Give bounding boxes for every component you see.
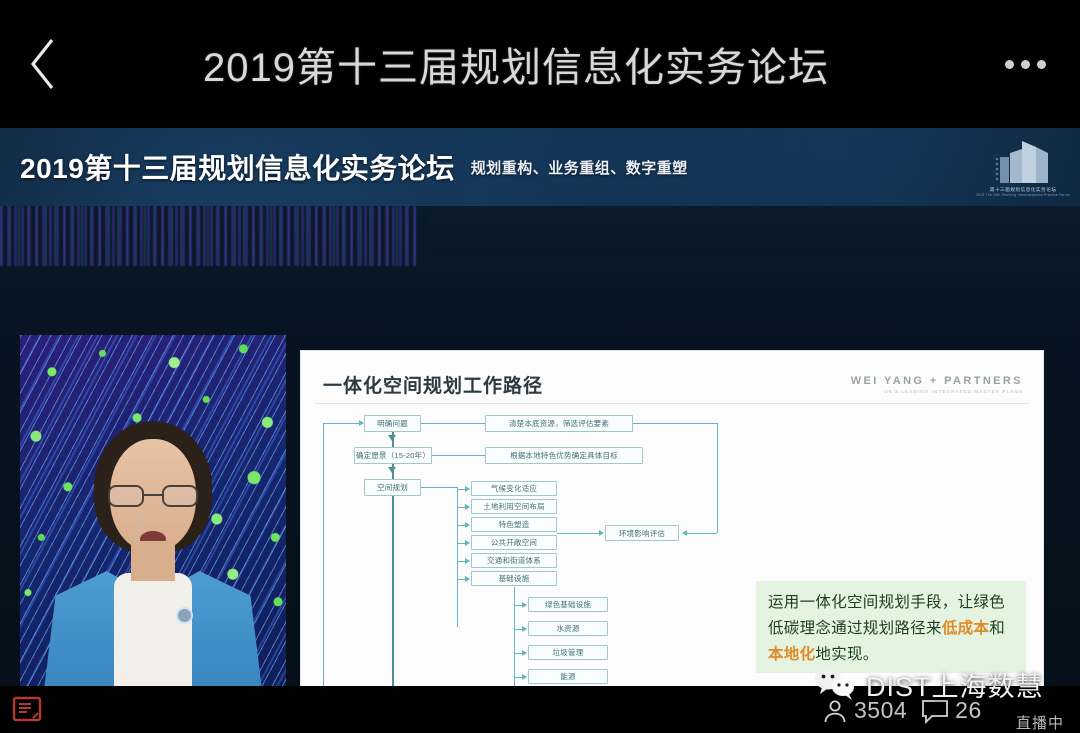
feedback-loop-line bbox=[323, 423, 359, 424]
node-label: 垃圾管理 bbox=[553, 647, 584, 658]
node-label: 环境影响评估 bbox=[619, 528, 665, 539]
slide-logo: WEI YANG + PARTNERS UK'S LEADING INTEGRA… bbox=[851, 375, 1023, 394]
flow-item-transport-streets: 交通和街道体系 bbox=[471, 553, 557, 568]
flow-node-set-vision: 确定愿景（15-20年） bbox=[354, 447, 432, 464]
branch-line bbox=[457, 543, 465, 544]
flow-note-resource-survey: 清楚本底资源，筛选评估要素 bbox=[485, 415, 633, 432]
spine-arrow-icon bbox=[388, 435, 396, 441]
flow-item-green-infrastructure: 绿色基础设施 bbox=[528, 597, 608, 612]
node-label: 清楚本底资源，筛选评估要素 bbox=[509, 418, 609, 429]
speaker-neck bbox=[131, 541, 175, 581]
flow-item-climate-adaptation: 气候变化适应 bbox=[471, 481, 557, 496]
branch-line bbox=[457, 579, 465, 580]
node-label: 基础设施 bbox=[499, 573, 530, 584]
conference-banner: 2019第十三届规划信息化实务论坛 规划重构、业务重组、数字重塑 第十三届规划信… bbox=[0, 128, 1080, 206]
flow-note-local-targets: 根据本地特色优势确定具体目标 bbox=[485, 447, 643, 464]
flow-item-infrastructure: 基础设施 bbox=[471, 571, 557, 586]
slide-divider bbox=[315, 403, 1029, 404]
flow-item-energy: 能源 bbox=[528, 669, 608, 684]
branch-line bbox=[457, 525, 465, 526]
callout-highlight-low-cost: 低成本 bbox=[942, 620, 989, 637]
more-options-button[interactable] bbox=[970, 0, 1080, 128]
node-label: 公共开敞空间 bbox=[491, 537, 537, 548]
branch-arrow-icon bbox=[522, 602, 527, 608]
banner-logo: 第十三届规划信息化实务论坛 2019 The 13th Planning Inf… bbox=[980, 132, 1066, 204]
branch-arrow-icon bbox=[465, 504, 470, 510]
node-label: 水资源 bbox=[556, 623, 579, 634]
node-label: 绿色基础设施 bbox=[545, 599, 591, 610]
eia-arrow-icon bbox=[599, 530, 604, 536]
branch-line bbox=[421, 487, 457, 488]
branch-arrow-icon bbox=[522, 626, 527, 632]
branch-arrow-icon bbox=[465, 522, 470, 528]
live-stream-page: 2019第十三届规划信息化实务论坛 2019第十三届规划信息化实务论坛 规划重构… bbox=[0, 0, 1080, 733]
branch-arrow-icon bbox=[465, 540, 470, 546]
back-button[interactable] bbox=[0, 0, 86, 128]
flow-item-public-open-space: 公共开敞空间 bbox=[471, 535, 557, 550]
connector-line bbox=[421, 423, 485, 424]
slide-logo-tagline: UK'S LEADING INTEGRATED MASTER PLANS bbox=[851, 389, 1023, 394]
top-navigation-bar: 2019第十三届规划信息化实务论坛 bbox=[0, 0, 1080, 128]
person-icon bbox=[822, 698, 848, 724]
chevron-left-icon bbox=[26, 35, 60, 93]
eia-return-arrow-icon bbox=[682, 530, 687, 536]
flow-item-water-resources: 水资源 bbox=[528, 621, 608, 636]
eia-return-line bbox=[717, 423, 718, 533]
workflow-diagram: 明确问题 确定愿景（15-20年） 空间规划 实施计划 长期管理 bbox=[301, 409, 1044, 686]
speaker-lapel-badge bbox=[176, 607, 193, 624]
viewers-count: 3504 bbox=[854, 697, 907, 724]
spine-arrow-icon bbox=[388, 467, 396, 473]
eia-return-line bbox=[633, 423, 717, 424]
banner-subtitle: 规划重构、业务重组、数字重塑 bbox=[471, 157, 688, 178]
city-towers-logo-icon bbox=[992, 139, 1054, 185]
connector-line bbox=[514, 653, 522, 654]
flow-node-spatial-plan: 空间规划 bbox=[364, 479, 421, 496]
connector-line bbox=[514, 677, 522, 678]
node-label: 明确问题 bbox=[377, 418, 408, 429]
slide-callout: 运用一体化空间规划手段，让绿色低碳理念通过规划路径来低成本和本地化地实现。 bbox=[756, 581, 1026, 673]
flow-item-waste-management: 垃圾管理 bbox=[528, 645, 608, 660]
flow-node-environmental-impact: 环境影响评估 bbox=[605, 525, 679, 541]
comments-count: 26 bbox=[955, 697, 982, 724]
branch-arrow-icon bbox=[522, 674, 527, 680]
more-horizontal-icon bbox=[1037, 60, 1046, 69]
banner-logo-en: 2019 The 13th Planning Informatization P… bbox=[976, 193, 1070, 197]
presentation-slide: 一体化空间规划工作路径 WEI YANG + PARTNERS UK'S LEA… bbox=[300, 350, 1044, 686]
branch-arrow-icon bbox=[465, 558, 470, 564]
connector-line bbox=[514, 605, 522, 606]
more-horizontal-icon bbox=[1021, 60, 1030, 69]
branch-line bbox=[457, 561, 465, 562]
node-label: 特色塑造 bbox=[499, 519, 530, 530]
node-label: 交通和街道体系 bbox=[487, 555, 541, 566]
branch-line bbox=[457, 507, 465, 508]
eia-return-line bbox=[687, 533, 717, 534]
slide-title: 一体化空间规划工作路径 bbox=[323, 371, 543, 398]
archive-box-icon[interactable] bbox=[12, 694, 42, 724]
node-label: 确定愿景（15-20年） bbox=[356, 450, 430, 461]
node-label: 能源 bbox=[560, 671, 575, 682]
speaker-glasses bbox=[108, 485, 198, 507]
live-status-text: 直播中 bbox=[1016, 712, 1064, 733]
callout-text-mid: 和 bbox=[989, 620, 1005, 637]
callout-highlight-localized: 本地化 bbox=[768, 646, 815, 663]
branch-arrow-icon bbox=[465, 486, 470, 492]
connector-line bbox=[514, 629, 522, 630]
infra-bus-line bbox=[514, 587, 515, 686]
branch-arrow-icon bbox=[522, 650, 527, 656]
callout-text-part2: 地实现。 bbox=[815, 646, 878, 663]
feedback-loop-line bbox=[323, 423, 324, 686]
stream-stats: 3504 26 bbox=[822, 688, 982, 733]
banner-title: 2019第十三届规划信息化实务论坛 bbox=[20, 147, 455, 187]
eia-connector-line bbox=[557, 533, 599, 534]
flow-item-land-use-layout: 土地利用空间布局 bbox=[471, 499, 557, 514]
node-label: 土地利用空间布局 bbox=[483, 501, 545, 512]
flow-item-character-shaping: 特色塑造 bbox=[471, 517, 557, 532]
comment-icon bbox=[921, 698, 949, 724]
branch-line bbox=[457, 489, 465, 490]
node-label: 气候变化适应 bbox=[491, 483, 537, 494]
flow-node-define-problem: 明确问题 bbox=[364, 415, 421, 432]
node-label: 根据本地特色优势确定具体目标 bbox=[510, 450, 618, 461]
speaker-shirt bbox=[114, 573, 192, 686]
page-title: 2019第十三届规划信息化实务论坛 bbox=[86, 35, 970, 93]
speaker-video-tile bbox=[20, 335, 286, 686]
banner-logo-cn: 第十三届规划信息化实务论坛 bbox=[990, 186, 1057, 193]
slide-logo-name: WEI YANG + PARTNERS bbox=[851, 375, 1023, 387]
branch-bus-line bbox=[457, 487, 458, 627]
branch-arrow-icon bbox=[465, 576, 470, 582]
video-stage[interactable]: 2019第十三届规划信息化实务论坛 规划重构、业务重组、数字重塑 第十三届规划信… bbox=[0, 128, 1080, 686]
more-horizontal-icon bbox=[1005, 60, 1014, 69]
connector-line bbox=[432, 455, 485, 456]
node-label: 空间规划 bbox=[377, 482, 408, 493]
